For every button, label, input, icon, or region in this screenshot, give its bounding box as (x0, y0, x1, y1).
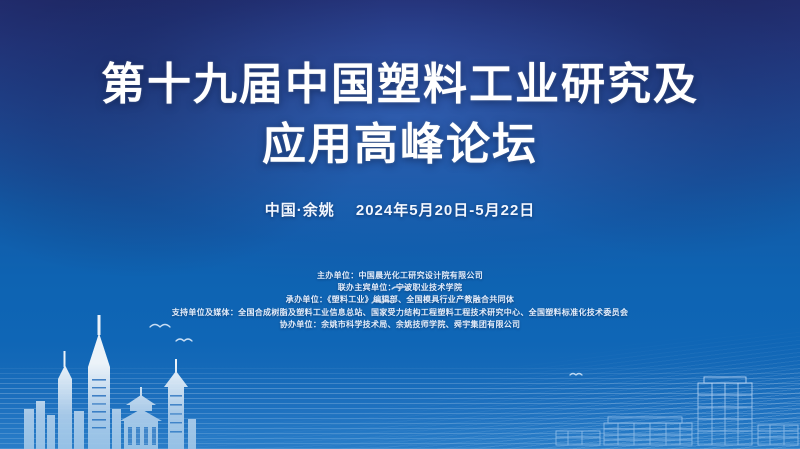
organizer-line: 承办单位：《塑料工业》编辑部、全国模具行业产教融合共同体 (0, 294, 800, 306)
event-date-range: 2024年5月20日-5月22日 (356, 202, 535, 219)
organizer-line: 联办主宾单位：宁波职业技术学院 (0, 282, 800, 294)
event-title-line-2: 应用高峰论坛 (0, 118, 800, 172)
event-title-line-1: 第十九届中国塑料工业研究及 (0, 58, 800, 112)
event-title: 第十九届中国塑料工业研究及 应用高峰论坛 (0, 58, 800, 172)
event-subtitle: 中国·余姚 2024年5月20日-5月22日 (0, 200, 800, 222)
organizer-line: 协办单位：余姚市科学技术局、余姚技师学院、舜宇集团有限公司 (0, 319, 800, 331)
event-location: 中国·余姚 (265, 202, 335, 219)
organizer-list: 主办单位：中国晨光化工研究设计院有限公司 联办主宾单位：宁波职业技术学院 承办单… (0, 270, 800, 331)
banner-content: 第十九届中国塑料工业研究及 应用高峰论坛 中国·余姚 2024年5月20日-5月… (0, 0, 800, 449)
organizer-line: 主办单位：中国晨光化工研究设计院有限公司 (0, 270, 800, 282)
organizer-line: 支持单位及媒体：全国合成树脂及塑料工业信息总站、国家受力结构工程塑料工程技术研究… (0, 307, 800, 319)
conference-banner: 第十九届中国塑料工业研究及 应用高峰论坛 中国·余姚 2024年5月20日-5月… (0, 0, 800, 449)
